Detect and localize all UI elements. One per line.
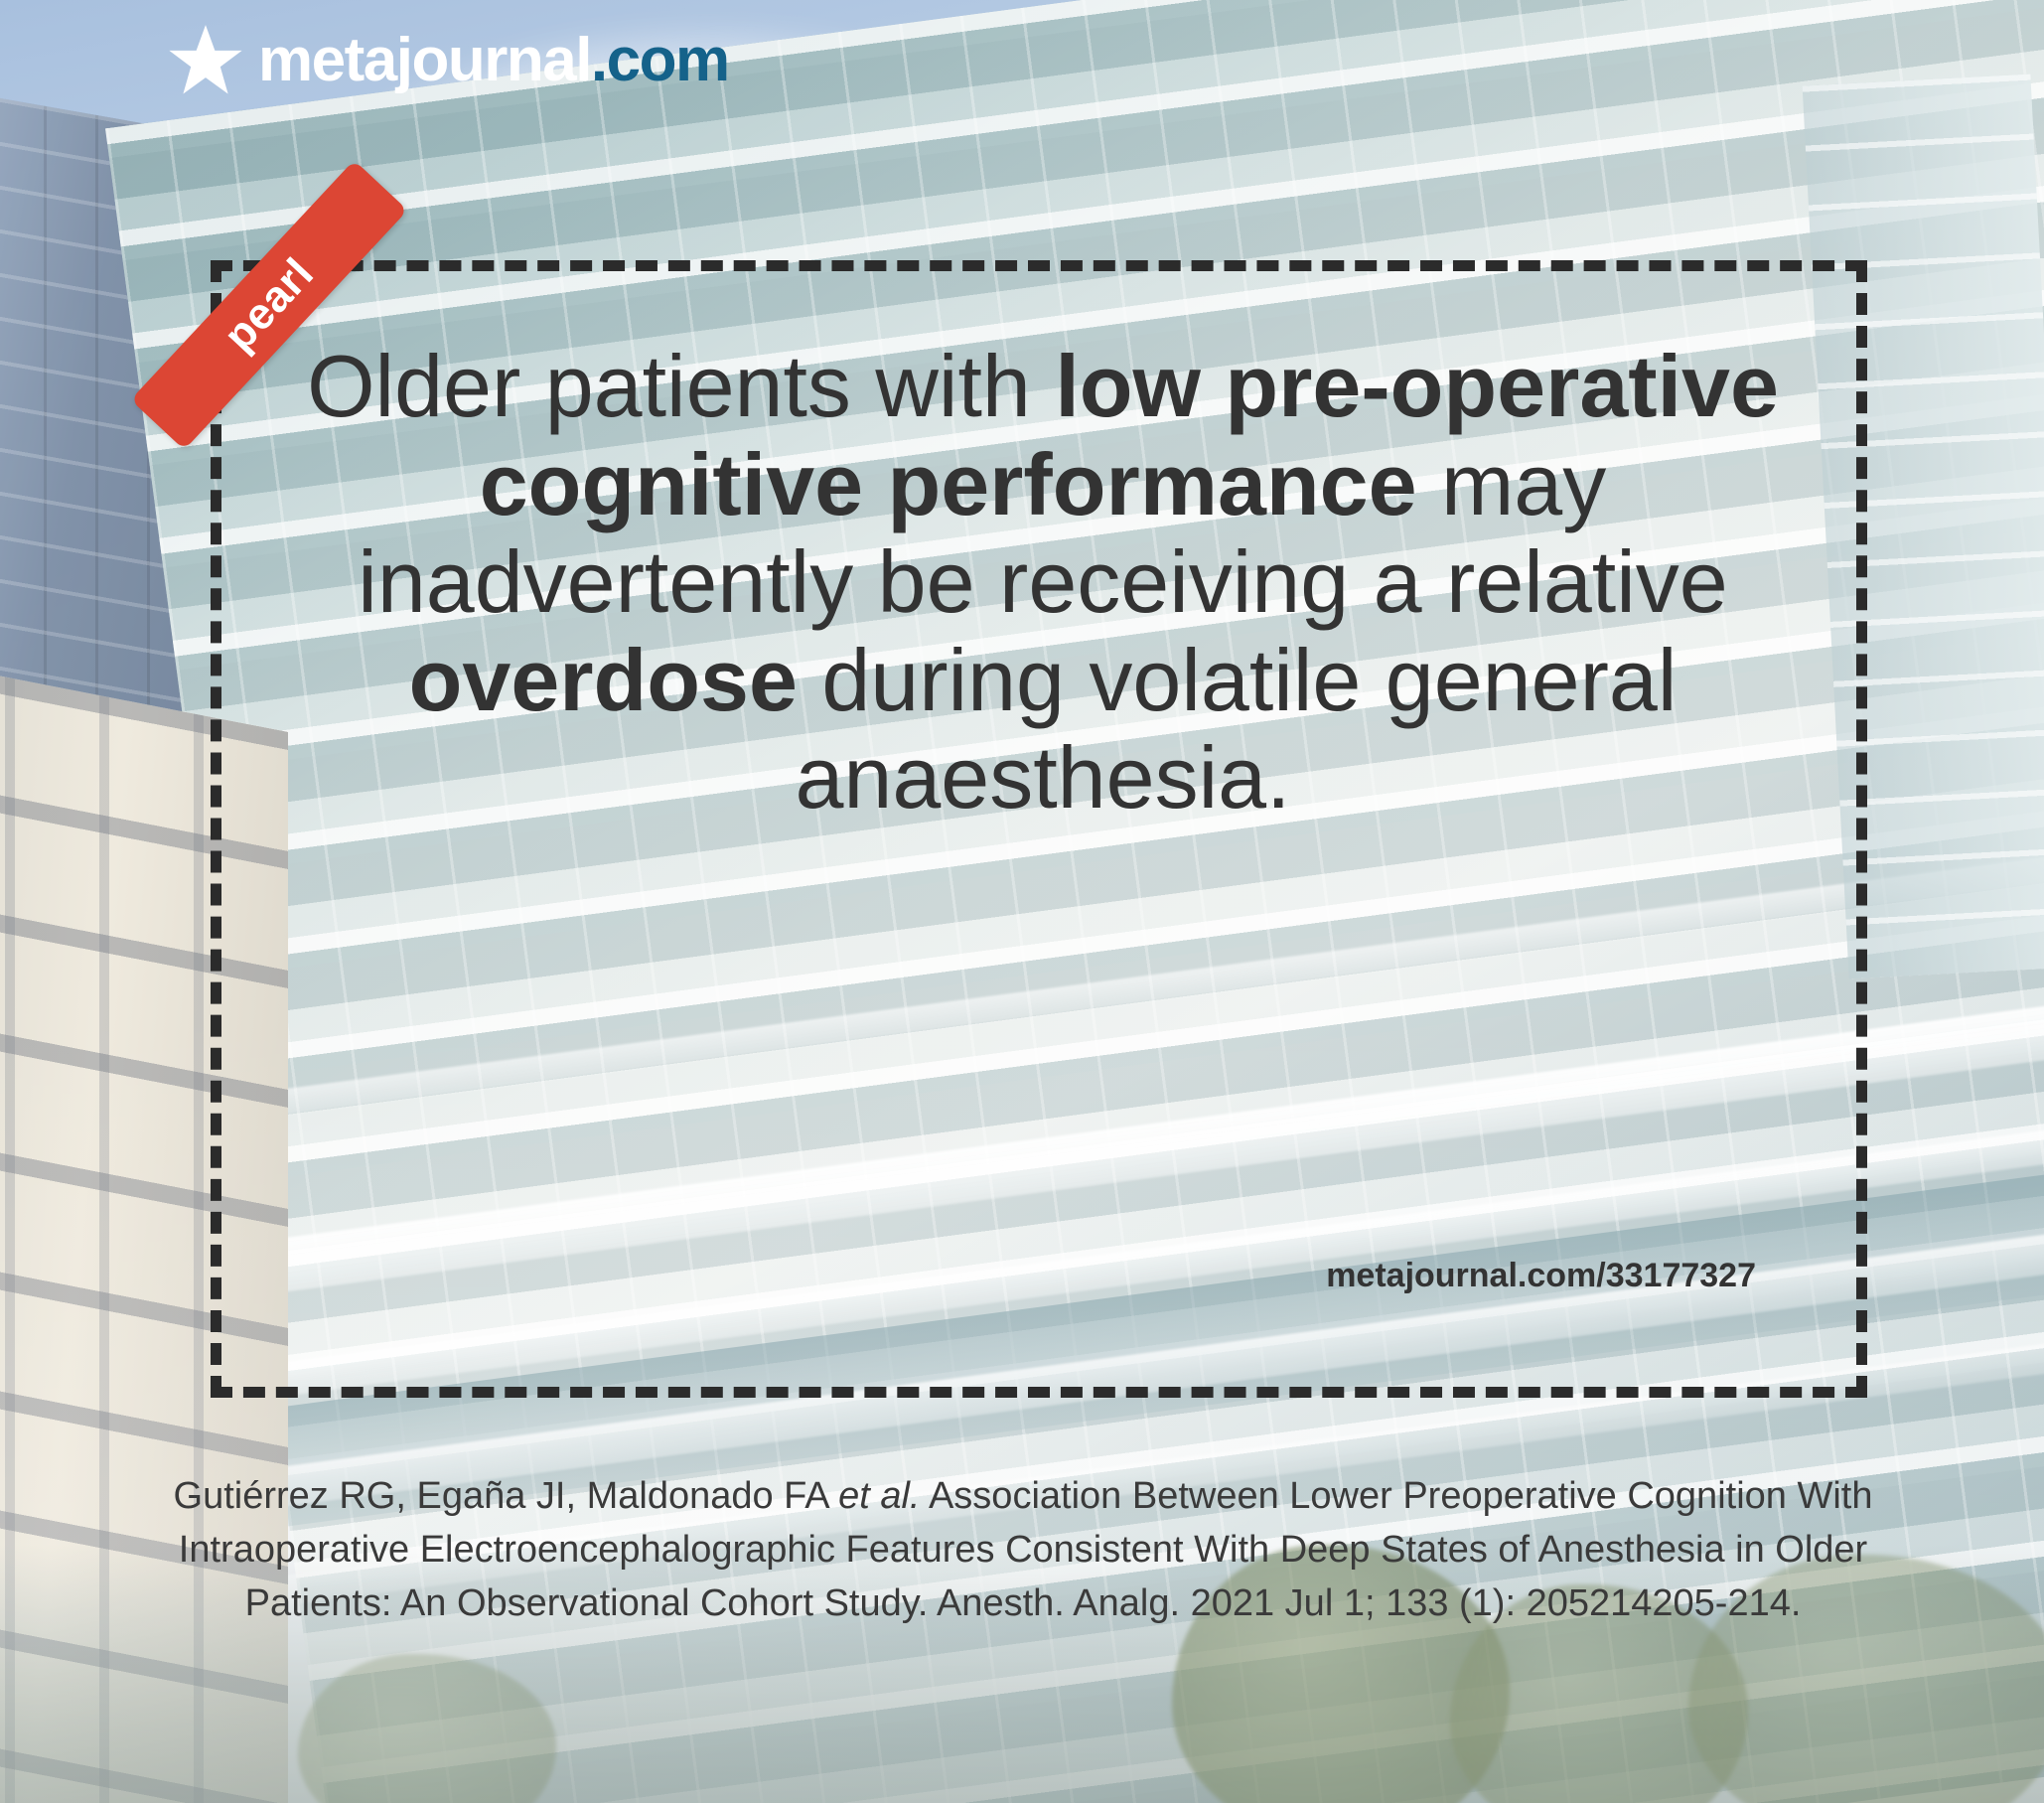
citation-journal: Anesth. Analg. 2021 Jul 1; 133 (1): 2052… xyxy=(929,1582,1802,1624)
quote-plain: Older patients with xyxy=(307,337,1055,435)
quote-plain: during volatile general anaesthesia. xyxy=(795,631,1677,827)
citation-et-al: et al. xyxy=(838,1475,920,1517)
citation-authors: Gutiérrez RG, Egaña JI, Maldonado FA xyxy=(174,1475,839,1517)
quote-emphasis: overdose xyxy=(409,631,798,729)
logo-tld: .com xyxy=(591,26,729,94)
logo-name: metajournal xyxy=(258,26,591,94)
source-url[interactable]: metajournal.com/33177327 xyxy=(1326,1257,1756,1295)
logo-wordmark: metajournal.com xyxy=(258,30,729,91)
metajournal-logo[interactable]: metajournal.com xyxy=(167,22,729,99)
citation-text: Gutiérrez RG, Egaña JI, Maldonado FA et … xyxy=(149,1470,1897,1631)
pearl-card: metajournal.com pearl Older patients wit… xyxy=(0,0,2044,1803)
star-icon xyxy=(167,22,244,99)
pearl-quote-text: Older patients with low pre-operative co… xyxy=(268,338,1818,827)
